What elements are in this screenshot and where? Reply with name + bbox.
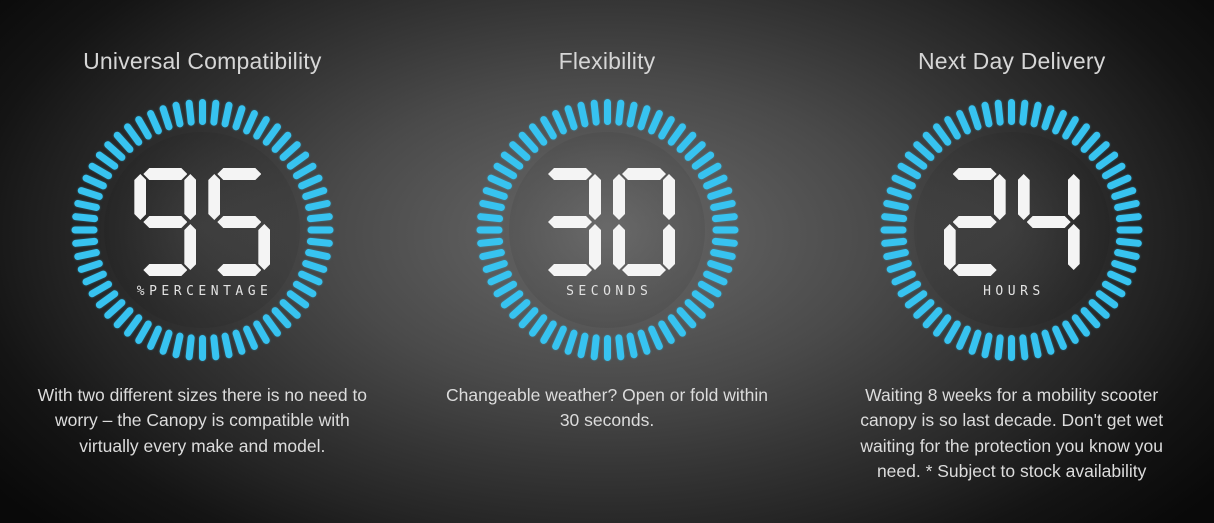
- gauge-tick: [1008, 335, 1015, 361]
- seven-segment-digit: [944, 168, 1006, 276]
- segment-d: [622, 264, 666, 276]
- gauge-tick: [614, 334, 624, 361]
- feature-column-universal-compatibility: Universal Compatibility %PERCENTAGE With…: [0, 0, 405, 523]
- gauge-tick: [210, 99, 220, 126]
- segment-g: [217, 216, 261, 228]
- segment-c: [1068, 224, 1080, 270]
- segment-c: [589, 224, 601, 270]
- gauge-tick: [221, 332, 233, 359]
- segment-c: [258, 224, 270, 270]
- gauge-tick: [185, 99, 195, 126]
- segment-d: [217, 264, 261, 276]
- counter-gauge: HOURS: [877, 95, 1147, 365]
- counter-unit-label: SECONDS: [472, 284, 742, 299]
- gauge-tick: [1008, 99, 1015, 125]
- gauge-tick: [994, 334, 1004, 361]
- counter-unit-label: %PERCENTAGE: [67, 284, 337, 299]
- segment-a: [953, 168, 997, 180]
- gauge-tick: [604, 335, 611, 361]
- gauge-tick: [625, 101, 637, 128]
- gauge-tick: [185, 334, 195, 361]
- segment-e: [944, 224, 956, 270]
- gauge-tick: [590, 99, 600, 126]
- seven-segment-digit: [134, 168, 196, 276]
- counter-gauge: %PERCENTAGE: [67, 95, 337, 365]
- gauge-tick: [994, 99, 1004, 126]
- segment-g: [1027, 216, 1071, 228]
- seven-segment-digit: [1018, 168, 1080, 276]
- counter-digits: [472, 168, 742, 276]
- segment-f: [208, 174, 220, 220]
- segment-c: [184, 224, 196, 270]
- segment-a: [622, 168, 666, 180]
- segment-g: [953, 216, 997, 228]
- segment-b: [1068, 174, 1080, 220]
- gauge-tick: [159, 329, 174, 356]
- segment-e: [613, 224, 625, 270]
- segment-b: [663, 174, 675, 220]
- segment-d: [143, 264, 187, 276]
- segment-a: [217, 168, 261, 180]
- feature-column-next-day-delivery: Next Day Delivery HOURS Waiting 8 weeks …: [809, 0, 1214, 523]
- segment-g: [143, 216, 187, 228]
- gauge-tick: [968, 104, 983, 131]
- gauge-tick: [968, 329, 983, 356]
- gauge-tick: [625, 332, 637, 359]
- counter-gauge: SECONDS: [472, 95, 742, 365]
- segment-d: [953, 264, 997, 276]
- gauge-tick: [199, 99, 206, 125]
- seven-segment-digit: [539, 168, 601, 276]
- feature-column-flexibility: Flexibility SECONDS Changeable weather? …: [405, 0, 810, 523]
- gauge-tick: [604, 99, 611, 125]
- segment-f: [613, 174, 625, 220]
- feature-highlights-section: Universal Compatibility %PERCENTAGE With…: [0, 0, 1214, 523]
- gauge-tick: [576, 332, 588, 359]
- feature-columns: Universal Compatibility %PERCENTAGE With…: [0, 0, 1214, 523]
- segment-a: [548, 168, 592, 180]
- gauge-tick: [614, 99, 624, 126]
- counter-digits: [67, 168, 337, 276]
- gauge-tick: [1030, 101, 1042, 128]
- column-title: Next Day Delivery: [918, 50, 1105, 73]
- segment-f: [1018, 174, 1030, 220]
- segment-g: [548, 216, 592, 228]
- seven-segment-digit: [613, 168, 675, 276]
- segment-b: [589, 174, 601, 220]
- gauge-tick: [981, 101, 993, 128]
- gauge-tick: [590, 334, 600, 361]
- gauge-tick: [172, 332, 184, 359]
- counter-unit-label: HOURS: [877, 284, 1147, 299]
- column-title: Universal Compatibility: [83, 50, 322, 73]
- gauge-tick: [199, 335, 206, 361]
- column-body-text: Changeable weather? Open or fold within …: [442, 383, 772, 434]
- column-title: Flexibility: [559, 50, 656, 73]
- column-body-text: Waiting 8 weeks for a mobility scooter c…: [847, 383, 1177, 485]
- gauge-tick: [1019, 99, 1029, 126]
- segment-b: [994, 174, 1006, 220]
- gauge-tick: [210, 334, 220, 361]
- gauge-tick: [172, 101, 184, 128]
- column-body-text: With two different sizes there is no nee…: [37, 383, 367, 459]
- gauge-tick: [576, 101, 588, 128]
- gauge-tick: [1019, 334, 1029, 361]
- segment-c: [663, 224, 675, 270]
- gauge-tick: [221, 101, 233, 128]
- segment-b: [184, 174, 196, 220]
- seven-segment-digit: [208, 168, 270, 276]
- segment-d: [548, 264, 592, 276]
- segment-f: [134, 174, 146, 220]
- gauge-tick: [1030, 332, 1042, 359]
- segment-a: [143, 168, 187, 180]
- counter-digits: [877, 168, 1147, 276]
- gauge-tick: [981, 332, 993, 359]
